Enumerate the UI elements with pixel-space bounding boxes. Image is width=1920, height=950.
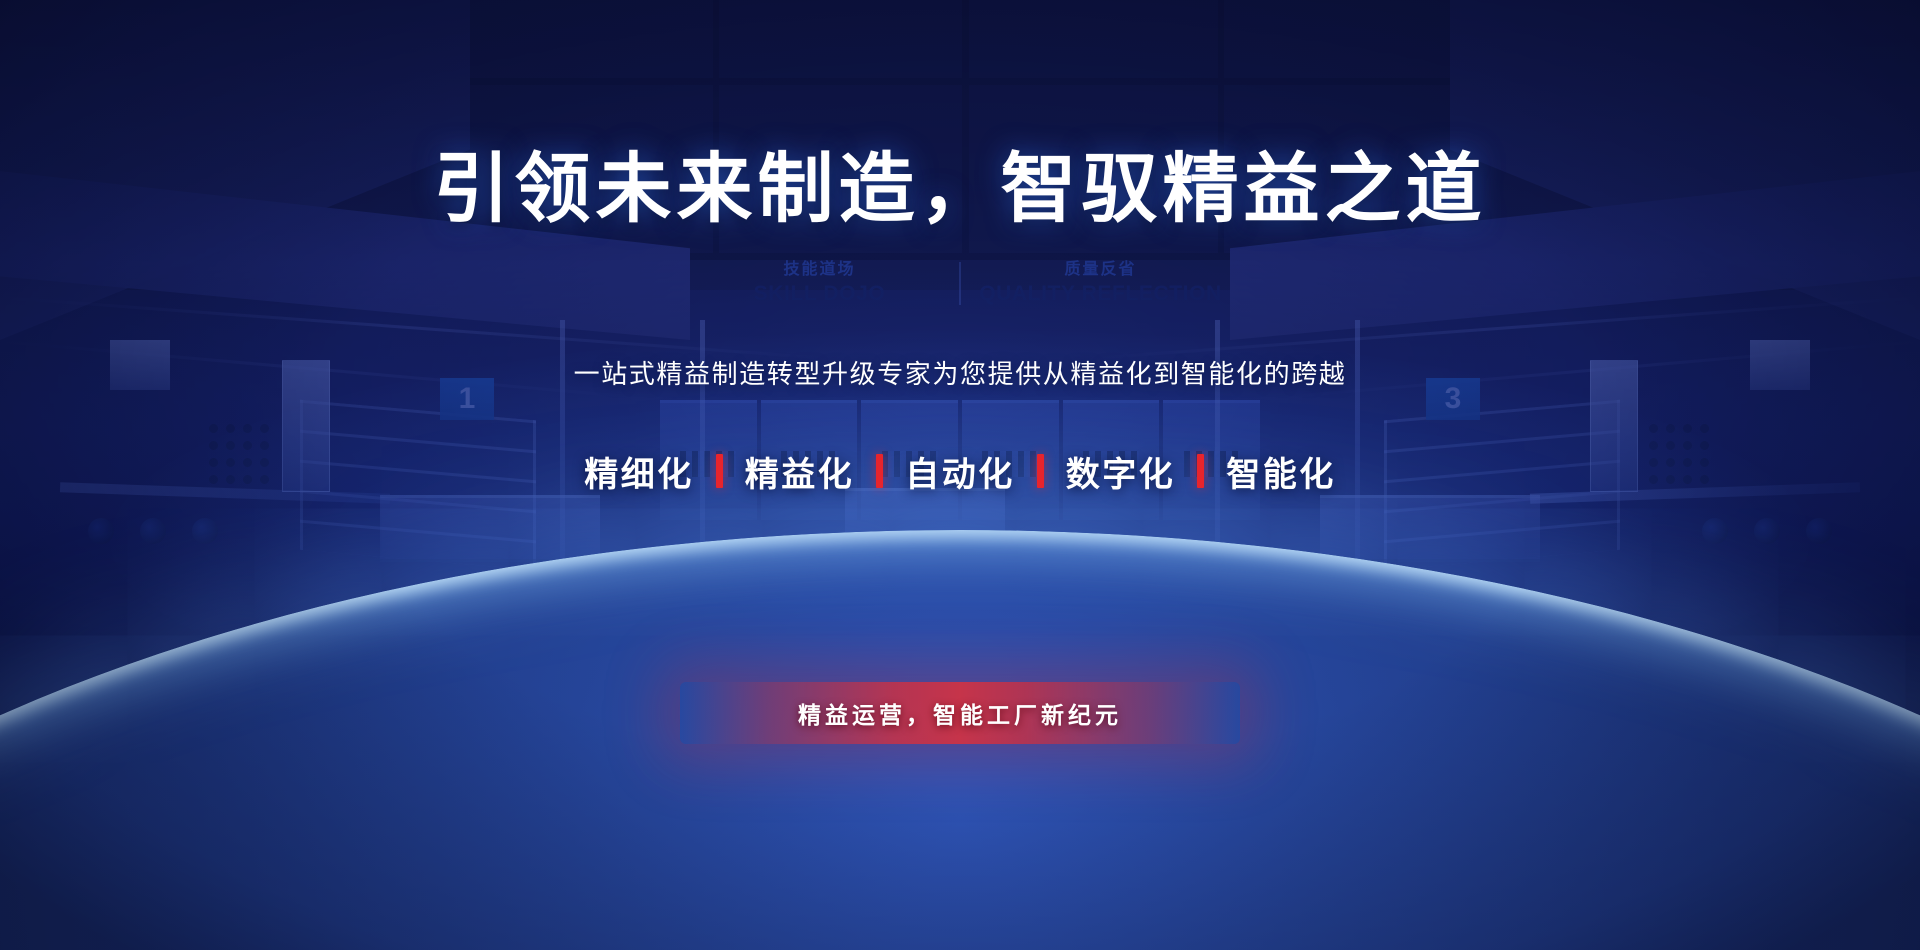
keyword-separator-icon (1197, 454, 1204, 488)
banner-content: 引领未来制造，智驭精益之道 一站式精益制造转型升级专家为您提供从精益化到智能化的… (0, 0, 1920, 950)
keyword-item: 精益化 (723, 447, 877, 496)
keyword-separator-icon (1037, 454, 1044, 488)
hero-banner: 技能道场 SKILL DOJO 质量反省 QUALITY REFLECTION (0, 0, 1920, 950)
keyword-separator-icon (716, 454, 723, 488)
keyword-item: 精细化 (562, 447, 716, 496)
keyword-separator-icon (876, 454, 883, 488)
subtitle: 一站式精益制造转型升级专家为您提供从精益化到智能化的跨越 (574, 354, 1347, 391)
tagline-text: 精益运营，智能工厂新纪元 (798, 696, 1122, 730)
keyword-item: 智能化 (1204, 447, 1358, 496)
keyword-list: 精细化 精益化 自动化 数字化 智能化 (562, 447, 1358, 496)
keyword-item: 数字化 (1044, 447, 1198, 496)
tagline-banner: 精益运营，智能工厂新纪元 (680, 682, 1240, 744)
keyword-item: 自动化 (883, 447, 1037, 496)
headline: 引领未来制造，智驭精益之道 (434, 152, 1487, 228)
